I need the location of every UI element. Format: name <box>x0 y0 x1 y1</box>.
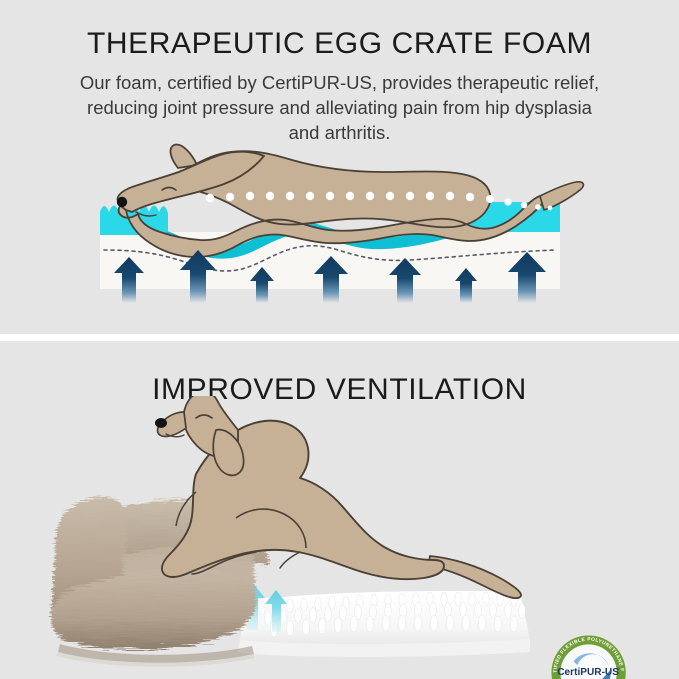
panel-divider <box>0 334 679 341</box>
badge-center-label: CertiPUR-US <box>557 667 619 678</box>
dog-illustration-lying <box>155 396 521 598</box>
panel1-illustration <box>0 140 679 335</box>
panel1-body-line-2: reducing joint pressure and alleviating … <box>0 95 679 120</box>
badge-trademark-symbol: ® <box>617 667 620 671</box>
panel2-illustration: CERTIFIED FLEXIBLE POLYURETHANE FOAM WWW… <box>0 396 679 679</box>
panel-improved-ventilation: IMPROVED VENTILATION <box>0 341 679 679</box>
dog-nose <box>155 418 167 428</box>
certipur-us-badge: CERTIFIED FLEXIBLE POLYURETHANE FOAM WWW… <box>549 631 626 679</box>
panel1-title: THERAPEUTIC EGG CRATE FOAM <box>0 27 679 61</box>
product-infographic: THERAPEUTIC EGG CRATE FOAM Our foam, cer… <box>0 0 679 679</box>
panel1-body: Our foam, certified by CertiPUR-US, prov… <box>0 70 679 145</box>
dog-nose <box>117 197 127 207</box>
panel-therapeutic-foam: THERAPEUTIC EGG CRATE FOAM Our foam, cer… <box>0 0 679 335</box>
panel1-body-line-1: Our foam, certified by CertiPUR-US, prov… <box>0 70 679 95</box>
